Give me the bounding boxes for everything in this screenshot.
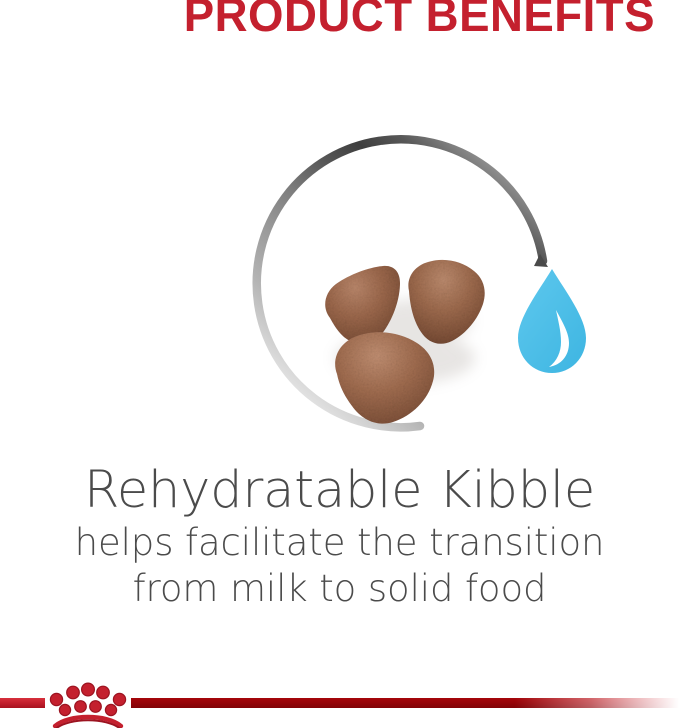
- brand-footer: [0, 655, 679, 728]
- footer-rule-left: [0, 698, 45, 708]
- product-benefit-illustration: [0, 86, 679, 456]
- page-title: PRODUCT BENEFITS: [20, 0, 655, 38]
- kibble-pieces: [325, 260, 485, 424]
- royal-canin-crown-icon: [45, 677, 131, 728]
- benefit-subline-2: from milk to solid food: [0, 566, 679, 612]
- water-droplet: [518, 269, 586, 373]
- benefit-text-block: Rehydratable Kibble helps facilitate the…: [0, 462, 679, 612]
- benefit-subline-1: helps facilitate the transition: [0, 520, 679, 566]
- benefit-heading: Rehydratable Kibble: [0, 462, 679, 520]
- footer-rule-right: [131, 698, 679, 708]
